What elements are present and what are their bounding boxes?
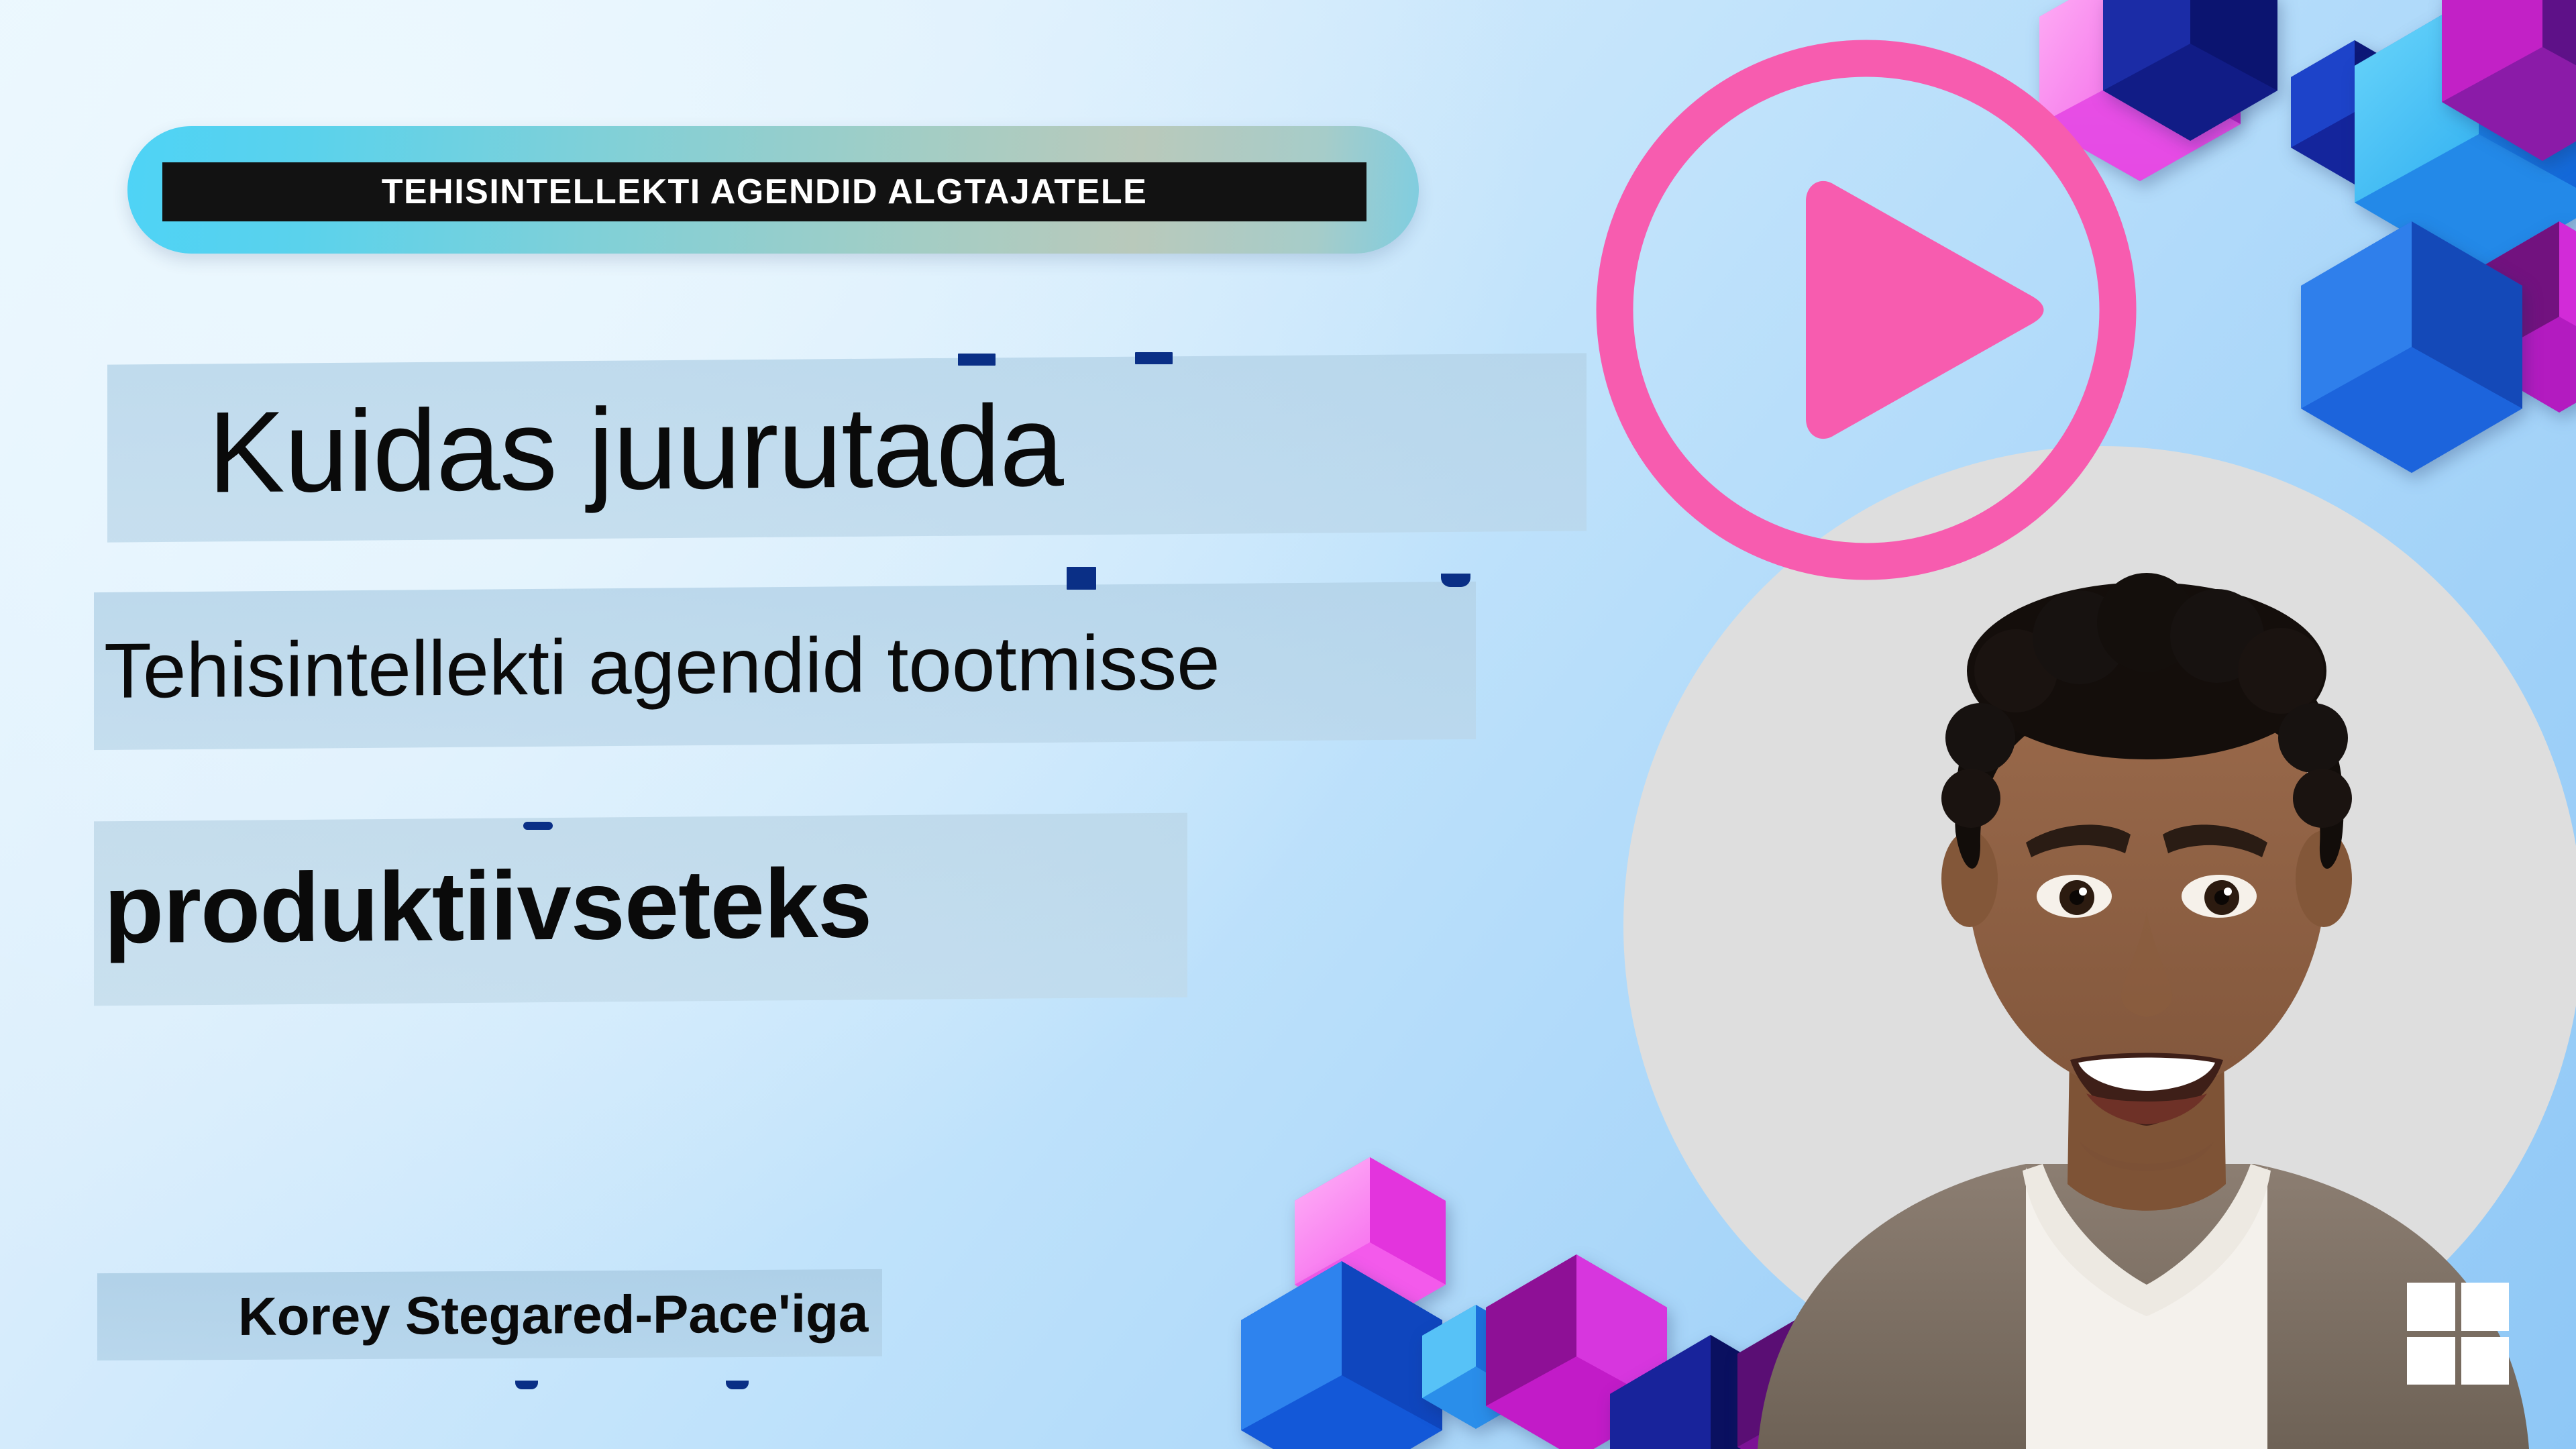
cube-blue-lower-topright (2301, 221, 2522, 473)
page-title: Kuidas juurutada (208, 365, 1063, 533)
badge-label: TEHISINTELLEKTI AGENDID ALGTAJATELE (382, 172, 1148, 212)
selection-handle-emphasis-top[interactable] (523, 822, 553, 830)
selection-handle-title-top-left[interactable] (958, 354, 996, 366)
emphasis-panel[interactable]: produktiivseteks (94, 813, 1187, 1006)
page-subtitle: Tehisintellekti agendid tootmisse (104, 598, 1220, 735)
presenter-byline: Korey Stegared-Pace'iga (238, 1273, 868, 1357)
badge-bar: TEHISINTELLEKTI AGENDID ALGTAJATELE (162, 162, 1366, 221)
selection-handle-byline-bottom-left[interactable] (515, 1381, 538, 1389)
cube-blue-bottom-left (1241, 1261, 1442, 1449)
title-panel[interactable]: Kuidas juurutada (107, 353, 1587, 542)
selection-handle-title-bottom-mid[interactable] (1067, 567, 1096, 590)
page-emphasis: produktiivseteks (104, 827, 871, 984)
selection-handle-title-bottom-right[interactable] (1441, 574, 1470, 587)
selection-handle-byline-bottom-right[interactable] (726, 1381, 749, 1389)
logo-square-top-right (2461, 1283, 2510, 1331)
selection-handle-title-top-right[interactable] (1135, 352, 1173, 364)
play-button[interactable] (1578, 21, 2155, 598)
byline-panel[interactable]: Korey Stegared-Pace'iga (97, 1269, 882, 1360)
subtitle-panel[interactable]: Tehisintellekti agendid tootmisse (94, 582, 1476, 750)
logo-square-bottom-right (2461, 1337, 2510, 1385)
microsoft-logo (2407, 1283, 2509, 1385)
logo-square-bottom-left (2407, 1337, 2455, 1385)
slide-canvas: TEHISINTELLEKTI AGENDID ALGTAJATELE Kuid… (0, 0, 2576, 1449)
logo-square-top-left (2407, 1283, 2455, 1331)
cube-purple-topright (2442, 0, 2576, 161)
